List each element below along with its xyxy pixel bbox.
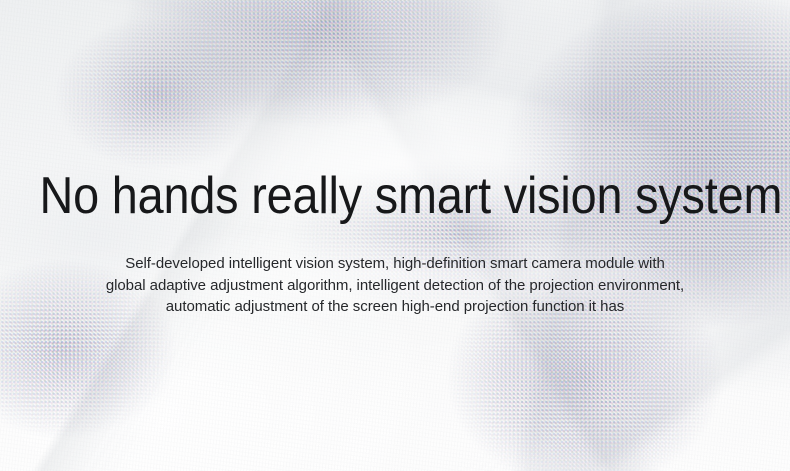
subcopy-line-1: Self-developed intelligent vision system…	[30, 253, 760, 275]
banner-content: No hands really smart vision system Self…	[0, 0, 790, 471]
banner-headline: No hands really smart vision system	[40, 167, 751, 225]
subcopy-line-2: global adaptive adjustment algorithm, in…	[30, 275, 760, 297]
subcopy-line-3: automatic adjustment of the screen high-…	[30, 296, 760, 318]
product-feature-banner: No hands really smart vision system Self…	[0, 0, 790, 471]
banner-subcopy: Self-developed intelligent vision system…	[30, 253, 760, 318]
